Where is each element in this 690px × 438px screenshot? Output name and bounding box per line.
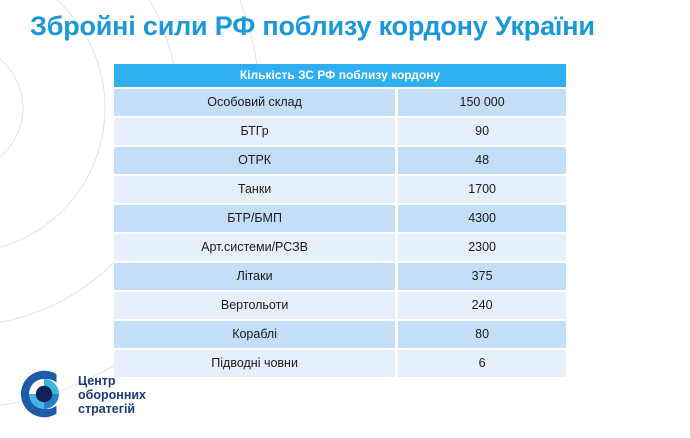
- row-value: 80: [398, 321, 566, 348]
- organization-logo: Центр оборонних стратегій: [18, 368, 188, 426]
- table-row: Літаки 375: [114, 263, 566, 290]
- row-label: Вертольоти: [114, 292, 398, 319]
- table-header-title: Кількість ЗС РФ поблизу кордону: [114, 64, 566, 89]
- table-row: Кораблі 80: [114, 321, 566, 348]
- table-header-row: Кількість ЗС РФ поблизу кордону: [114, 64, 566, 89]
- table-row: Особовий склад 150 000: [114, 89, 566, 116]
- row-label: Арт.системи/РСЗВ: [114, 234, 398, 261]
- table-row: ОТРК 48: [114, 147, 566, 174]
- logo-text-line-2: оборонних: [78, 388, 146, 402]
- table-row: БТГр 90: [114, 118, 566, 145]
- row-label: Особовий склад: [114, 89, 398, 116]
- row-label: Танки: [114, 176, 398, 203]
- row-value: 2300: [398, 234, 566, 261]
- forces-table: Кількість ЗС РФ поблизу кордону Особовий…: [114, 64, 566, 377]
- table-body: Особовий склад 150 000 БТГр 90 ОТРК 48 Т…: [114, 89, 566, 377]
- row-value: 4300: [398, 205, 566, 232]
- logo-text-line-3: стратегій: [78, 402, 146, 416]
- row-label: Кораблі: [114, 321, 398, 348]
- row-value: 48: [398, 147, 566, 174]
- row-label: ОТРК: [114, 147, 398, 174]
- row-value: 240: [398, 292, 566, 319]
- row-value: 1700: [398, 176, 566, 203]
- table-row: Вертольоти 240: [114, 292, 566, 319]
- row-value: 375: [398, 263, 566, 290]
- row-value: 6: [398, 350, 566, 377]
- row-label: БТР/БМП: [114, 205, 398, 232]
- centre-for-defence-strategies-logo-icon: [18, 368, 70, 420]
- row-value: 90: [398, 118, 566, 145]
- page-title: Збройні сили РФ поблизу кордону України: [30, 11, 595, 42]
- row-label: Літаки: [114, 263, 398, 290]
- logo-text-line-1: Центр: [78, 374, 146, 388]
- logo-text: Центр оборонних стратегій: [78, 374, 146, 416]
- row-label: БТГр: [114, 118, 398, 145]
- slide-canvas: Збройні сили РФ поблизу кордону України …: [0, 0, 690, 438]
- table-row: Арт.системи/РСЗВ 2300: [114, 234, 566, 261]
- table-row: Танки 1700: [114, 176, 566, 203]
- row-value: 150 000: [398, 89, 566, 116]
- table-row: БТР/БМП 4300: [114, 205, 566, 232]
